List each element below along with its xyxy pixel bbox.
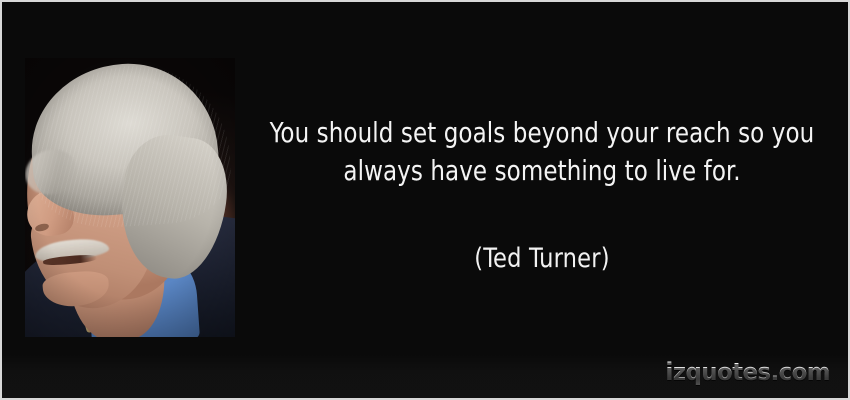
quote-line-1: You should set goals beyond your reach s… <box>267 114 818 152</box>
quote-author: (Ted Turner) <box>267 242 818 276</box>
quote-line-2: always have something to live for. <box>267 152 818 190</box>
quote-block: You should set goals beyond your reach s… <box>246 114 838 276</box>
quote-image-card: You should set goals beyond your reach s… <box>0 0 850 400</box>
quote-canvas: You should set goals beyond your reach s… <box>2 2 848 398</box>
portrait-photo-content <box>25 58 235 337</box>
watermark-izquotes: izquotes.com <box>665 358 830 386</box>
portrait-photo <box>25 58 235 337</box>
